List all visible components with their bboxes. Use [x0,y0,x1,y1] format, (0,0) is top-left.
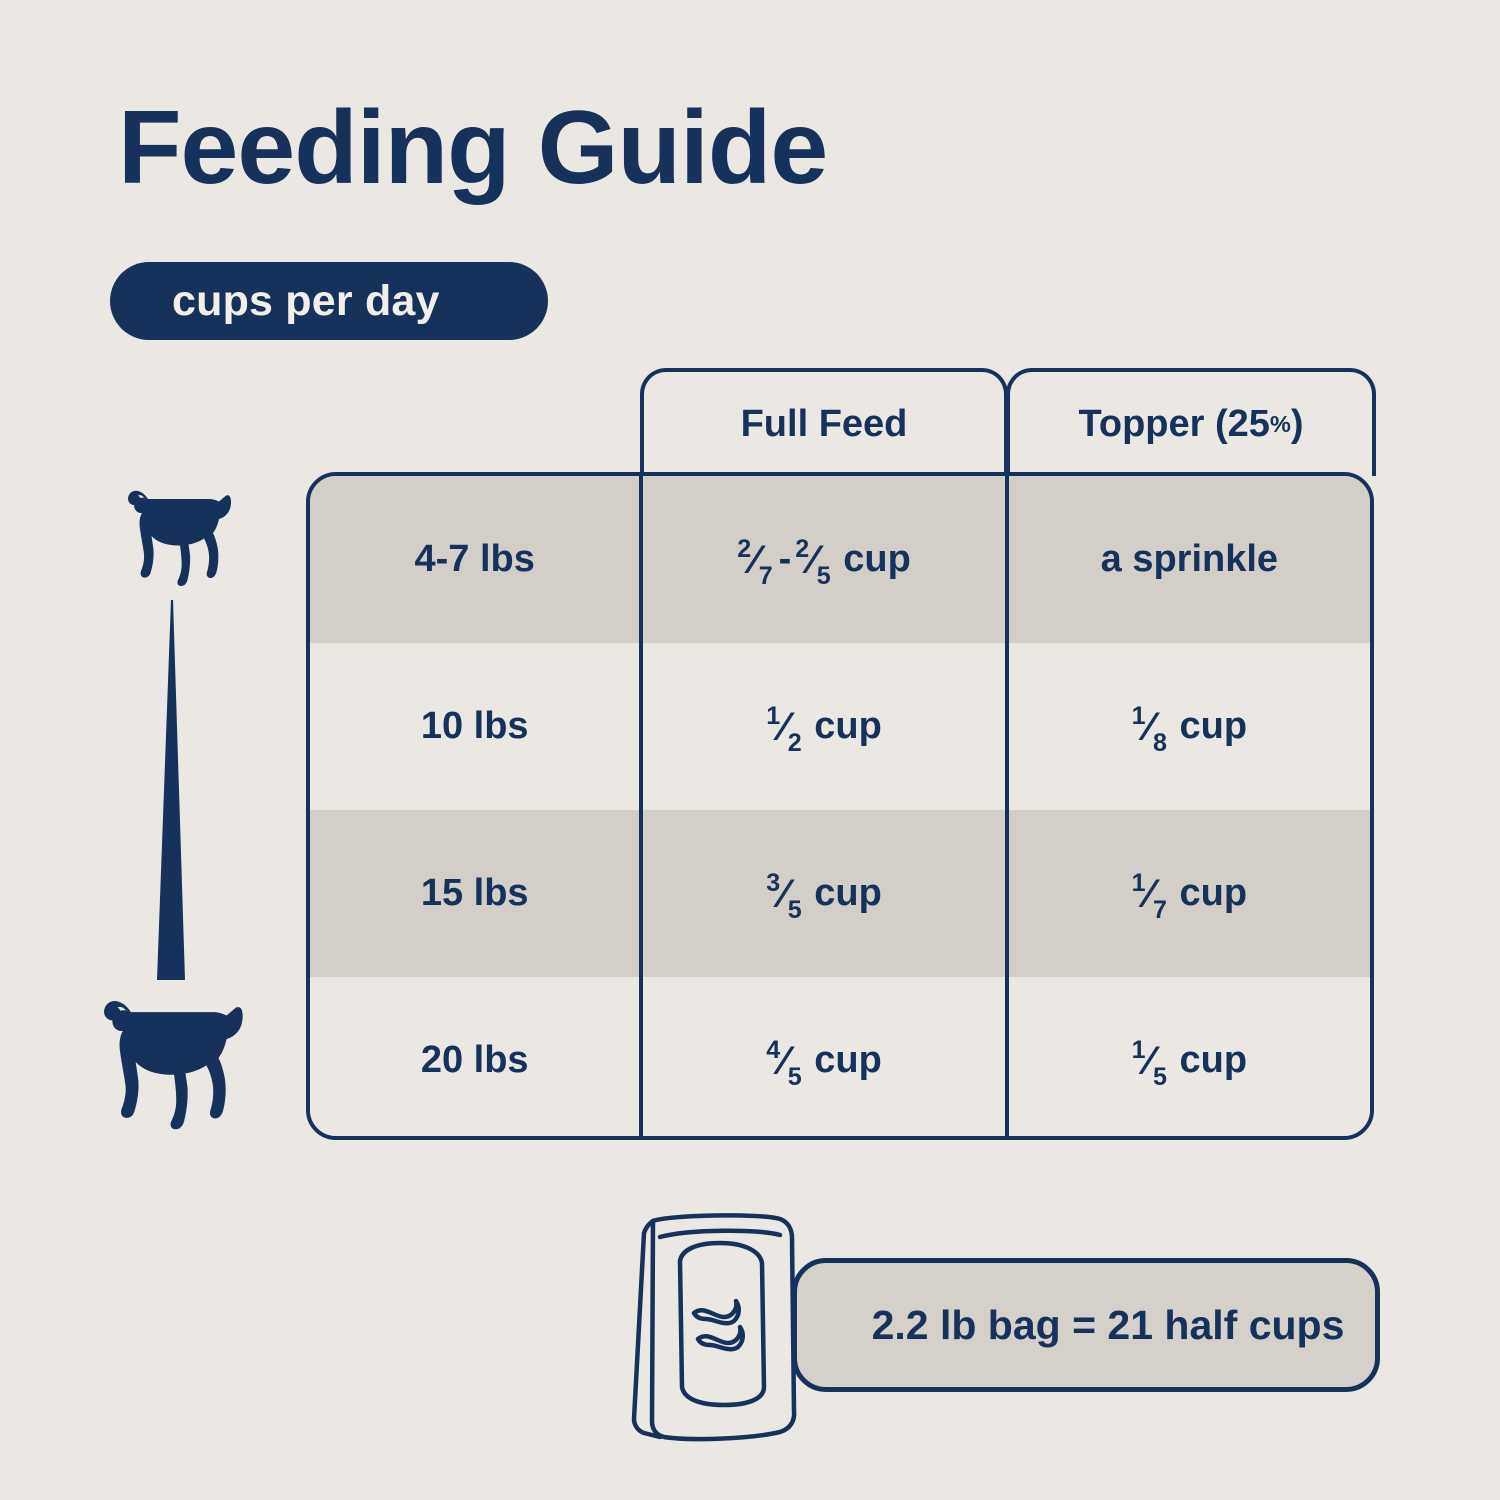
fraction-slash: ⁄ [780,1038,788,1083]
fraction-slash: ⁄ [1146,1038,1154,1083]
cell-weight: 15 lbs [310,810,639,977]
cell-weight: 4-7 lbs [310,476,639,643]
bag-note-badge: 2.2 lb bag = 21 half cups [792,1258,1380,1392]
unit-label: cup [843,538,911,581]
column-header-full-feed: Full Feed [640,368,1008,476]
unit-label: cup [1180,872,1248,915]
table-row: 15 lbs 3⁄5 cup 1⁄7 cup [310,810,1370,977]
fraction: 1⁄5 [1132,1038,1167,1084]
fraction-slash: ⁄ [780,704,788,749]
unit-label: cup [814,872,882,915]
column-header-full-feed-label: Full Feed [741,403,908,446]
fraction-numerator: 2 [737,535,751,563]
fraction-numerator: 3 [766,869,780,897]
cell-weight: 10 lbs [310,643,639,810]
cell-topper: 1⁄5 cup [1005,977,1370,1140]
cell-weight-label: 10 lbs [421,705,529,748]
cat-walking-icon-large [82,996,258,1141]
fraction-from: 2⁄7 [737,537,772,583]
cell-topper-label: a sprinkle [1101,538,1278,581]
fraction-numerator: 2 [795,535,809,563]
cell-weight-label: 15 lbs [421,872,529,915]
bag-note-label: 2.2 lb bag = 21 half cups [828,1302,1345,1349]
cat-walking-icon-small [118,487,236,596]
fraction-denominator: 5 [788,1063,802,1091]
cell-full-feed: 2⁄7-2⁄5 cup [639,476,1004,643]
size-scale-wedge [152,600,192,980]
subtitle-pill: cups per day [110,262,548,340]
fraction: 1⁄2 [766,704,801,750]
fraction-slash: ⁄ [1146,871,1154,916]
fraction-numerator: 1 [1132,702,1146,730]
table-row: 20 lbs 4⁄5 cup 1⁄5 cup [310,977,1370,1140]
table-body: 4-7 lbs 2⁄7-2⁄5 cup a sprinkle 10 lbs 1⁄… [306,472,1374,1140]
bag-callout: 2.2 lb bag = 21 half cups [620,1205,1380,1445]
fraction-denominator: 5 [1153,1063,1167,1091]
cell-weight-label: 20 lbs [421,1039,529,1082]
unit-label: cup [814,1039,882,1082]
table-header-row: Full Feed Topper (25%) [306,368,1374,476]
fraction: 4⁄5 [766,1038,801,1084]
cell-weight-label: 4-7 lbs [414,538,534,581]
cell-full-feed: 4⁄5 cup [639,977,1004,1140]
fraction-slash: ⁄ [780,871,788,916]
unit-label: cup [1180,705,1248,748]
unit-label: cup [1180,1039,1248,1082]
fraction-denominator: 8 [1153,729,1167,757]
column-header-topper: Topper (25%) [1006,368,1376,476]
column-header-topper-label: Topper (25 [1078,403,1269,446]
feeding-table: Full Feed Topper (25%) 4-7 lbs 2⁄7-2⁄5 c… [306,368,1374,1140]
cell-topper: 1⁄7 cup [1005,810,1370,977]
table-row: 10 lbs 1⁄2 cup 1⁄8 cup [310,643,1370,810]
fraction-numerator: 1 [1132,869,1146,897]
fraction-denominator: 7 [759,562,773,590]
fraction-slash: ⁄ [751,537,759,582]
cell-topper: 1⁄8 cup [1005,643,1370,810]
cell-full-feed: 3⁄5 cup [639,810,1004,977]
cell-weight: 20 lbs [310,977,639,1140]
fraction-slash: ⁄ [809,537,817,582]
cell-topper: a sprinkle [1005,476,1370,643]
fraction-numerator: 1 [1132,1036,1146,1064]
fraction-denominator: 5 [817,562,831,590]
fraction: 1⁄7 [1132,871,1167,917]
fraction: 1⁄8 [1132,704,1167,750]
page-title: Feeding Guide [118,96,827,200]
fraction: 3⁄5 [766,871,801,917]
fraction-slash: ⁄ [1146,704,1154,749]
fraction-to: 2⁄5 [795,537,830,583]
fraction-denominator: 5 [788,896,802,924]
column-header-topper-close: ) [1291,403,1304,446]
unit-label: cup [814,705,882,748]
fraction-denominator: 2 [788,729,802,757]
cell-full-feed: 1⁄2 cup [639,643,1004,810]
fraction-denominator: 7 [1153,896,1167,924]
fraction-numerator: 4 [766,1036,780,1064]
range-dash: - [775,538,796,581]
subtitle-pill-label: cups per day [110,277,440,326]
table-row: 4-7 lbs 2⁄7-2⁄5 cup a sprinkle [310,476,1370,643]
fraction-numerator: 1 [766,702,780,730]
